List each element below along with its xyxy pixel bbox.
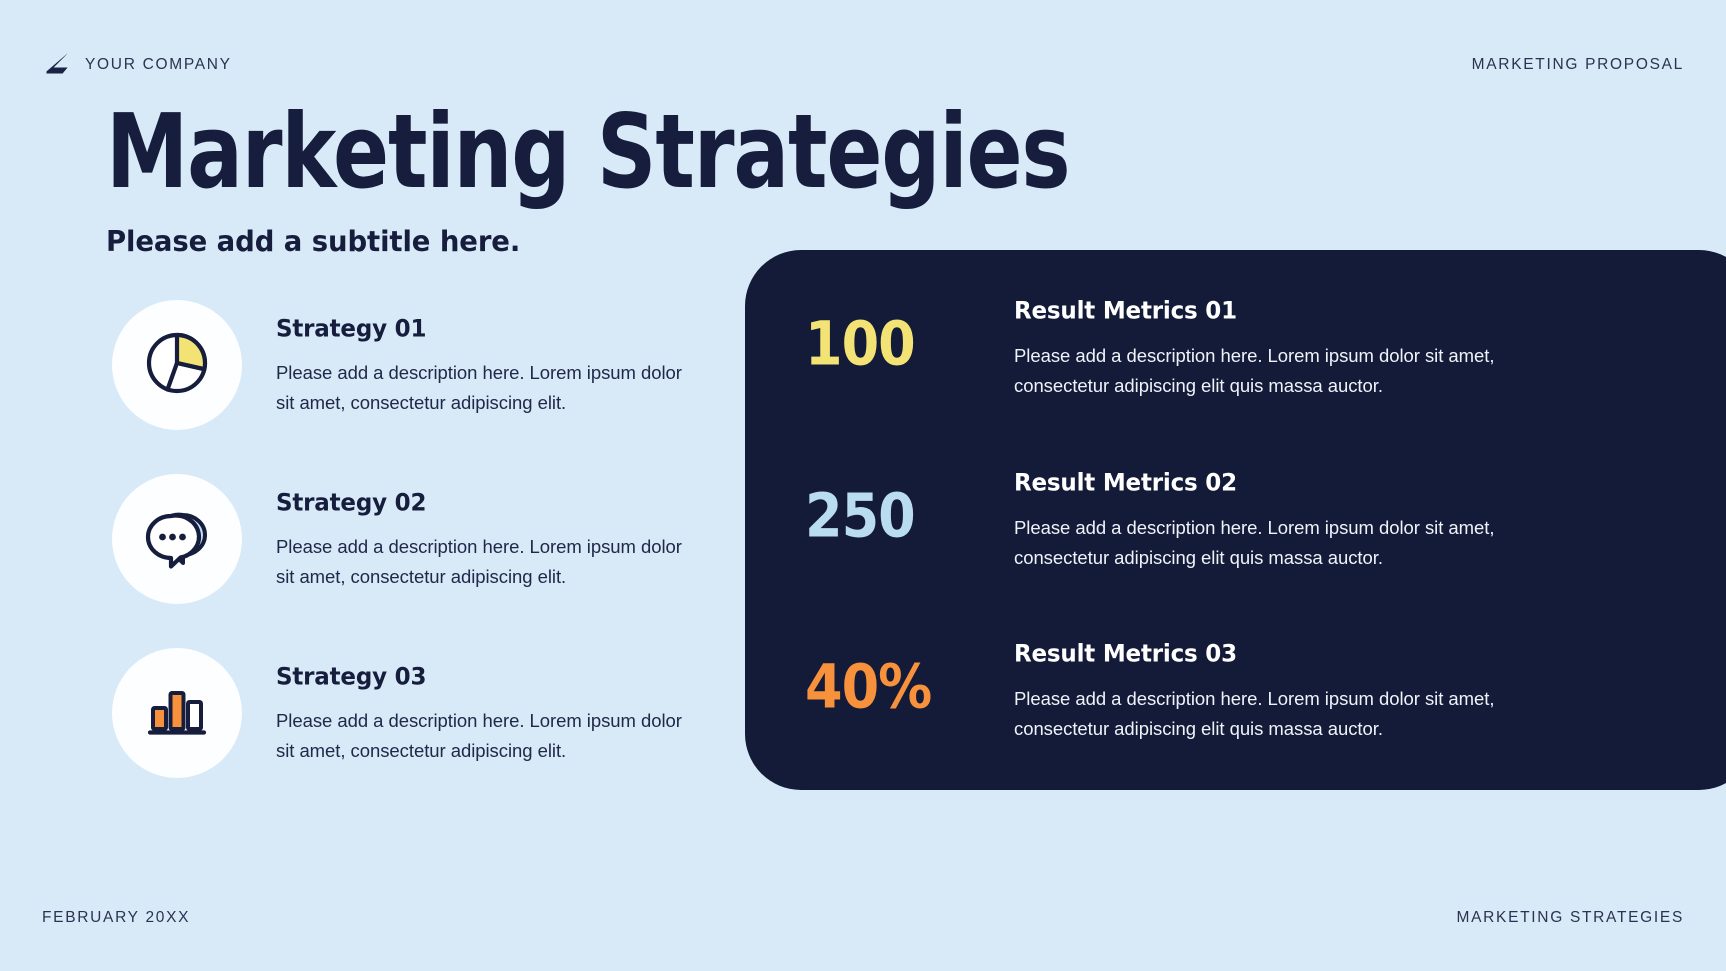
pie-chart-icon <box>140 326 214 405</box>
strategy-text: Strategy 03 Please add a description her… <box>276 648 691 766</box>
metric-title: Result Metrics 03 <box>1014 641 1675 668</box>
footer-date: FEBRUARY 20XX <box>42 909 190 927</box>
metric-item[interactable]: 100 Result Metrics 01 Please add a descr… <box>805 296 1675 401</box>
metric-item[interactable]: 40% Result Metrics 03 Please add a descr… <box>805 639 1675 744</box>
strategy-text: Strategy 01 Please add a description her… <box>276 300 691 418</box>
metric-title: Result Metrics 01 <box>1014 298 1675 325</box>
metric-value: 100 <box>805 296 970 374</box>
strategy-icon-badge <box>112 300 242 430</box>
company-name: YOUR COMPANY <box>85 56 232 74</box>
strategy-title: Strategy 03 <box>276 664 691 691</box>
slide-footer: FEBRUARY 20XX MARKETING STRATEGIES <box>42 905 1684 931</box>
strategy-title: Strategy 02 <box>276 490 691 517</box>
strategy-item[interactable]: Strategy 02 Please add a description her… <box>112 474 712 604</box>
strategy-icon-badge <box>112 474 242 604</box>
slide-header: YOUR COMPANY MARKETING PROPOSAL <box>42 48 1684 82</box>
chat-bubbles-icon <box>140 500 214 579</box>
document-label: MARKETING PROPOSAL <box>1472 56 1684 74</box>
metric-body: Result Metrics 01 Please add a descripti… <box>1014 296 1675 401</box>
strategy-description: Please add a description here. Lorem ips… <box>276 532 691 592</box>
strategy-text: Strategy 02 Please add a description her… <box>276 474 691 592</box>
metric-description: Please add a description here. Lorem ips… <box>1014 684 1504 744</box>
result-metrics-panel: 100 Result Metrics 01 Please add a descr… <box>745 250 1726 790</box>
strategy-item[interactable]: Strategy 03 Please add a description her… <box>112 648 712 778</box>
metric-item[interactable]: 250 Result Metrics 02 Please add a descr… <box>805 468 1675 573</box>
metric-body: Result Metrics 02 Please add a descripti… <box>1014 468 1675 573</box>
metric-title: Result Metrics 02 <box>1014 470 1675 497</box>
brand: YOUR COMPANY <box>42 50 232 80</box>
title-block: Marketing Strategies Please add a subtit… <box>106 98 1084 257</box>
metric-value: 250 <box>805 468 970 546</box>
bar-chart-icon <box>140 674 214 753</box>
metric-description: Please add a description here. Lorem ips… <box>1014 513 1504 573</box>
strategy-title: Strategy 01 <box>276 316 691 343</box>
metric-description: Please add a description here. Lorem ips… <box>1014 341 1504 401</box>
arrow-logo-icon <box>42 50 72 80</box>
metric-body: Result Metrics 03 Please add a descripti… <box>1014 639 1675 744</box>
strategy-description: Please add a description here. Lorem ips… <box>276 706 691 766</box>
page-title: Marketing Strategies <box>106 98 1070 207</box>
strategy-description: Please add a description here. Lorem ips… <box>276 358 691 418</box>
strategy-item[interactable]: Strategy 01 Please add a description her… <box>112 300 712 430</box>
metric-value: 40% <box>805 639 970 717</box>
strategy-list: Strategy 01 Please add a description her… <box>112 300 712 778</box>
footer-section: MARKETING STRATEGIES <box>1457 909 1685 927</box>
strategy-icon-badge <box>112 648 242 778</box>
